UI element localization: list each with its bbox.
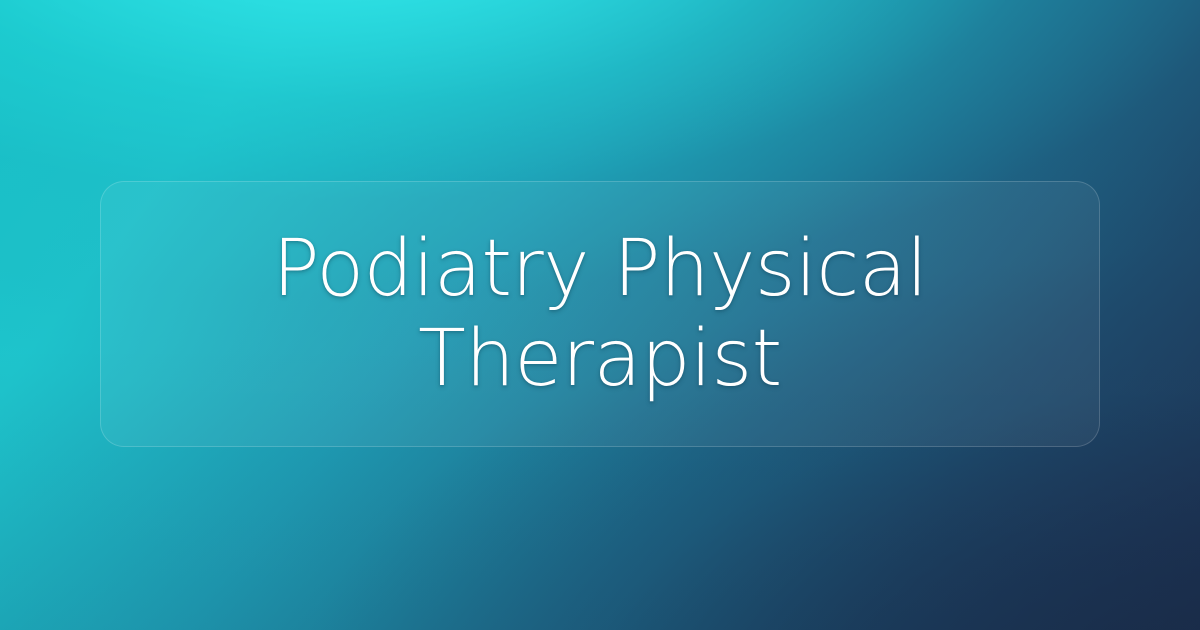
- title-card: Podiatry Physical Therapist: [100, 181, 1100, 447]
- page-title: Podiatry Physical Therapist: [270, 224, 930, 404]
- og-banner: Podiatry Physical Therapist: [0, 0, 1200, 630]
- title-card-content: Podiatry Physical Therapist: [101, 224, 1099, 404]
